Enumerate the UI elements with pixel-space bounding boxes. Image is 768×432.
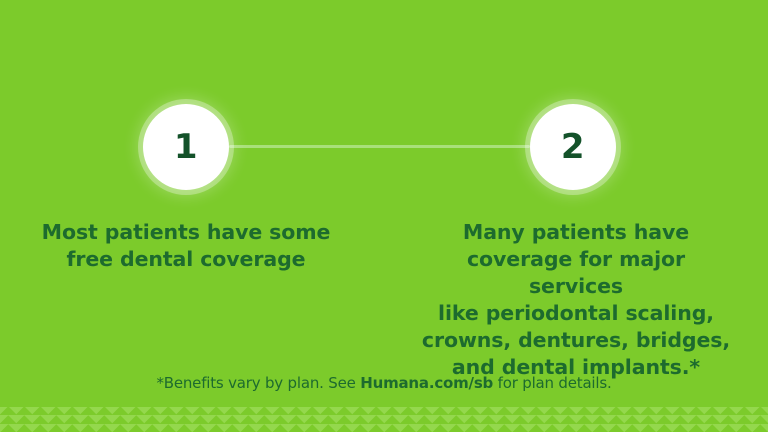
step-circle-2: 2: [530, 104, 616, 190]
step-circle-1: 1: [143, 104, 229, 190]
footnote-disclaimer: *Benefits vary by plan. See Humana.com/s…: [0, 373, 768, 393]
step-caption-2-line-3: like periodontal scaling,: [418, 300, 734, 327]
footnote-suffix: for plan details.: [493, 374, 611, 392]
step-number-1: 1: [174, 130, 198, 164]
slide-canvas: 1 2 Most patients have some free dental …: [0, 0, 768, 432]
step-caption-2-line-2: coverage for major services: [418, 246, 734, 300]
chevron-pattern-band: [0, 406, 768, 432]
step-caption-2-line-4: crowns, dentures, bridges,: [418, 327, 734, 354]
step-caption-1-line-1: Most patients have some: [28, 219, 344, 246]
footnote-link-humana[interactable]: Humana.com/sb: [360, 374, 493, 392]
step-connector-line: [229, 145, 530, 148]
footnote-prefix: *Benefits vary by plan. See: [156, 374, 360, 392]
chevron-pattern-graphic: [0, 406, 768, 432]
step-number-2: 2: [561, 130, 585, 164]
step-caption-1-line-2: free dental coverage: [28, 246, 344, 273]
step-caption-2-line-1: Many patients have: [418, 219, 734, 246]
step-caption-1: Most patients have some free dental cove…: [28, 219, 344, 273]
step-caption-2: Many patients have coverage for major se…: [418, 219, 734, 381]
